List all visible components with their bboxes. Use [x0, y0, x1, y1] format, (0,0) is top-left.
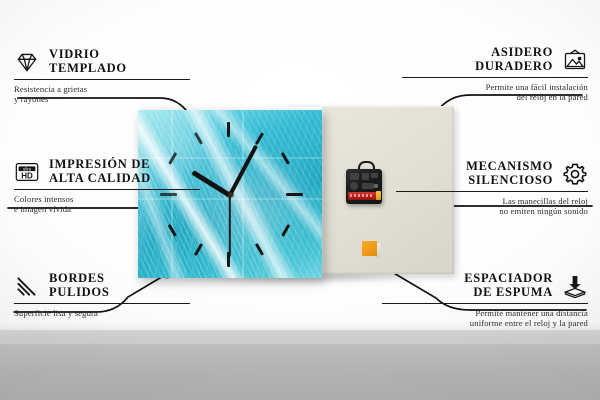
callout-espaciador-de-espuma: ESPACIADOR DE ESPUMA Permite mantener un… [382, 272, 588, 329]
callout-divider [14, 303, 190, 304]
callout-title: IMPRESIÓN DE ALTA CALIDAD [49, 158, 151, 185]
callout-divider [14, 79, 190, 80]
callout-subtitle: Colores intensos e imagen vívida [14, 194, 200, 215]
callout-mecanismo-silencioso: MECANISMO SILENCIOSO Las manecillas del … [396, 160, 588, 217]
callout-title: BORDES PULIDOS [49, 272, 109, 299]
callout-title: ESPACIADOR DE ESPUMA [464, 272, 553, 299]
diamond-icon [14, 49, 40, 75]
svg-text:HD: HD [21, 171, 33, 180]
wall-hanger-icon [562, 47, 588, 73]
callout-vidrio-templado: VIDRIO TEMPLADO Resistencia a grietas y … [14, 48, 190, 105]
callout-subtitle: Resistencia a grietas y rayones [14, 84, 190, 105]
callout-impresion-alta-calidad: ultra HD IMPRESIÓN DE ALTA CALIDAD Color… [14, 158, 200, 215]
ultra-hd-icon: ultra HD [14, 159, 40, 185]
infographic-canvas: VIDRIO TEMPLADO Resistencia a grietas y … [0, 0, 600, 400]
callout-subtitle: Permite una fácil instalación del reloj … [402, 82, 588, 103]
callout-bordes-pulidos: BORDES PULIDOS Superficie lisa y segura [14, 272, 190, 318]
callout-divider [396, 191, 588, 192]
callout-subtitle: Superficie lisa y segura [14, 308, 190, 318]
battery-label [350, 194, 374, 197]
callout-title: ASIDERO DURADERO [475, 46, 553, 73]
callout-divider [402, 77, 588, 78]
foam-spacer [362, 241, 377, 256]
battery-terminal [376, 191, 381, 200]
callout-subtitle: Permite mantener una distancia uniforme … [382, 308, 588, 329]
callout-divider [14, 189, 200, 190]
polished-edges-icon [14, 273, 40, 299]
gear-icon [562, 161, 588, 187]
callout-divider [382, 303, 588, 304]
foam-spacer-icon [562, 273, 588, 299]
callout-title: MECANISMO SILENCIOSO [466, 160, 553, 187]
hour-marker [227, 122, 230, 137]
hour-marker [286, 193, 303, 196]
callout-asidero-duradero: ASIDERO DURADERO Permite una fácil insta… [402, 46, 588, 103]
callout-subtitle: Las manecillas del reloj no emiten ningú… [396, 196, 588, 217]
callout-title: VIDRIO TEMPLADO [49, 48, 127, 75]
clock-hands-pivot [228, 192, 233, 197]
second-hand [229, 195, 231, 257]
